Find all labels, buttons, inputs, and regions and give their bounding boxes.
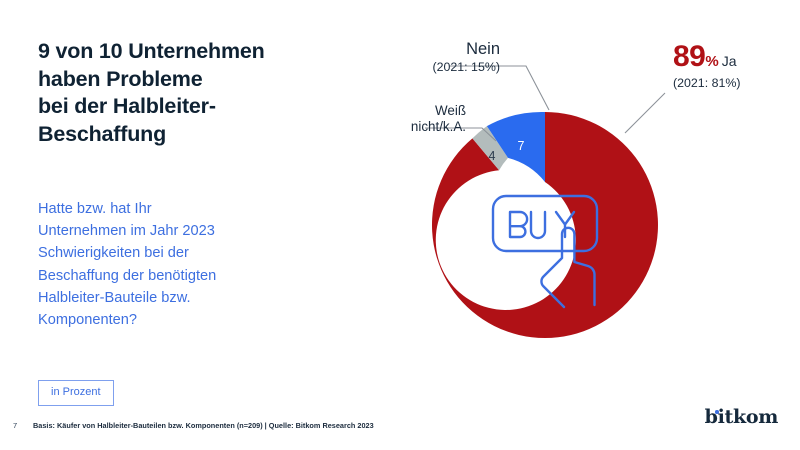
callout-weiss-nicht-line: nicht/k.A.: [336, 119, 466, 135]
unit-badge: in Prozent: [38, 380, 114, 406]
survey-question-line: Unternehmen im Jahr 2023: [38, 220, 338, 242]
callout-ja-headline: 89%Ja: [673, 42, 800, 72]
survey-question-line: Komponenten?: [38, 309, 338, 331]
slice-value-weiss-nicht: 4: [489, 149, 496, 163]
callout-ja-subvalue: (2021: 81%): [673, 76, 800, 90]
callout-weiss-nicht-line: Weiß: [336, 103, 466, 119]
survey-question-line: Beschaffung der benötigten: [38, 265, 338, 287]
slice-value-nein: 7: [518, 139, 525, 153]
callout-ja-value: 89: [673, 40, 705, 73]
callout-nein-subvalue: (2021: 15%): [360, 60, 500, 75]
headline-line: Beschaffung: [38, 121, 358, 149]
leader-line-ja: [625, 93, 665, 133]
survey-question-line: Halbleiter-Bauteile bzw.: [38, 287, 338, 309]
donut-chart: 7 4 Nein: [330, 0, 800, 450]
headline-line: haben Probleme: [38, 66, 358, 94]
page-title: 9 von 10 Unternehmen haben Probleme bei …: [38, 38, 358, 149]
slide-root: 9 von 10 Unternehmen haben Probleme bei …: [0, 0, 800, 450]
headline-line: bei der Halbleiter-: [38, 93, 358, 121]
callout-ja-percent-sign: %: [705, 53, 718, 70]
source-note: Basis: Käufer von Halbleiter-Bauteilen b…: [33, 421, 374, 430]
callout-nein: Nein (2021: 15%): [360, 40, 500, 75]
headline-line: 9 von 10 Unternehmen: [38, 38, 358, 66]
callout-weiss-nicht: Weiß nicht/k.A.: [336, 103, 466, 136]
callout-ja-label: Ja: [722, 53, 737, 69]
callout-ja: 89%Ja (2021: 81%): [673, 42, 800, 90]
survey-question: Hatte bzw. hat Ihr Unternehmen im Jahr 2…: [38, 198, 338, 331]
survey-question-line: Hatte bzw. hat Ihr: [38, 198, 338, 220]
callout-nein-title: Nein: [360, 40, 500, 58]
survey-question-line: Schwierigkeiten bei der: [38, 242, 338, 264]
page-number: 7: [13, 421, 17, 430]
